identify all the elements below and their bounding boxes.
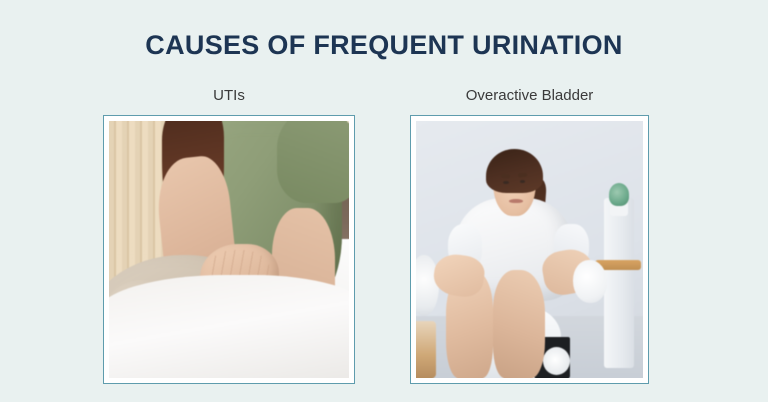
left-wooden-stool (416, 321, 436, 378)
infographic-canvas: CAUSES OF FREQUENT URINATION UTIs (0, 0, 768, 402)
photo-utis (109, 121, 349, 378)
green-plant (609, 183, 629, 206)
page-title: CAUSES OF FREQUENT URINATION (0, 28, 768, 62)
photo-frame-utis (103, 115, 355, 384)
panel-utis: UTIs (103, 86, 355, 384)
white-shelf (604, 198, 634, 368)
right-leg (493, 270, 545, 378)
panel-caption-utis: UTIs (103, 86, 355, 106)
photo-overactive-bladder (416, 121, 643, 378)
white-bed-sheet (109, 275, 349, 378)
left-eyebrow (501, 173, 510, 178)
panel-overactive-bladder: Overactive Bladder (410, 86, 649, 384)
photo-frame-overactive-bladder (410, 115, 649, 384)
panel-caption-overactive-bladder: Overactive Bladder (410, 86, 649, 106)
held-tissue-roll (573, 260, 607, 304)
shoulder (277, 121, 349, 203)
left-eye (503, 181, 509, 184)
